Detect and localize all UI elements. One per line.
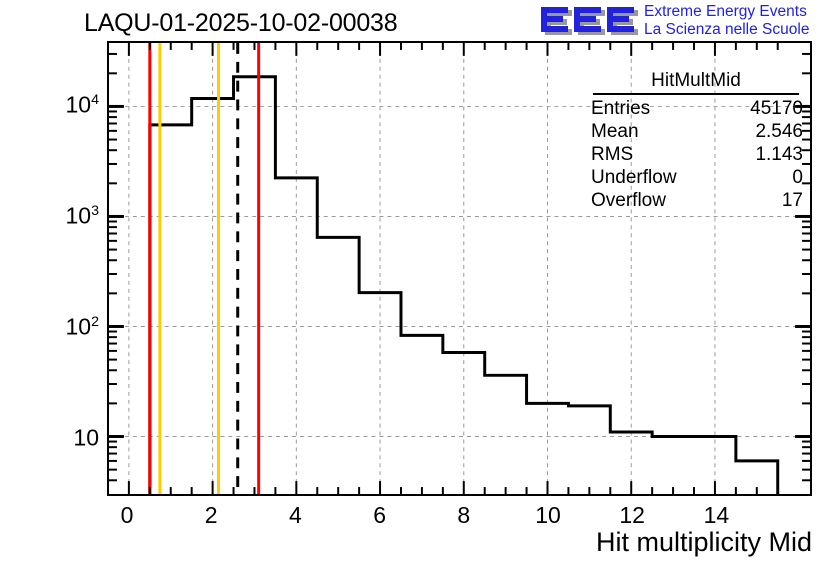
x-tick-label-1: 2 xyxy=(205,502,218,529)
stats-row-label: Overflow xyxy=(591,189,666,212)
stats-row-underflow: Underflow0 xyxy=(585,166,807,189)
stats-row-value: 1.143 xyxy=(755,143,803,166)
x-tick-label-4: 8 xyxy=(457,502,470,529)
x-tick-label-3: 6 xyxy=(373,502,386,529)
y-tick-label-1: 103 xyxy=(65,203,99,230)
x-tick-label-0: 0 xyxy=(121,502,134,529)
stats-row-label: Underflow xyxy=(591,166,677,189)
stats-row-value: 45170 xyxy=(750,97,803,120)
stats-row-label: Entries xyxy=(591,97,650,120)
eee-logo-line1: Extreme Energy Events xyxy=(644,3,809,21)
stats-row-mean: Mean2.546 xyxy=(585,120,807,143)
stats-box: HitMultMid Entries45170Mean2.546RMS1.143… xyxy=(585,70,807,212)
eee-logo-line2: La Scienza nelle Scuole xyxy=(644,21,809,39)
stats-row-value: 0 xyxy=(792,166,803,189)
stats-row-label: RMS xyxy=(591,143,633,166)
stats-row-rms: RMS1.143 xyxy=(585,143,807,166)
eee-logo: Extreme Energy Events La Scienza nelle S… xyxy=(540,2,832,42)
x-tick-label-6: 12 xyxy=(619,502,645,529)
stats-row-overflow: Overflow17 xyxy=(585,189,807,212)
eee-logo-text: Extreme Energy Events La Scienza nelle S… xyxy=(644,3,809,39)
stats-row-value: 2.546 xyxy=(755,120,803,143)
stats-box-rows: Entries45170Mean2.546RMS1.143Underflow0O… xyxy=(585,97,807,212)
stats-row-value: 17 xyxy=(782,189,803,212)
stats-row-entries: Entries45170 xyxy=(585,97,807,120)
root-canvas: LAQU-01-2025-10-02-00038 xyxy=(0,0,836,572)
x-tick-label-5: 10 xyxy=(535,502,561,529)
x-tick-label-7: 14 xyxy=(704,502,730,529)
y-tick-label-2: 102 xyxy=(65,314,99,341)
x-tick-label-2: 4 xyxy=(289,502,302,529)
y-tick-label-3: 10 xyxy=(73,425,99,452)
page-title: LAQU-01-2025-10-02-00038 xyxy=(84,9,397,38)
eee-logo-mark-icon xyxy=(540,5,638,38)
y-tick-label-0: 104 xyxy=(65,92,99,119)
x-axis-title: Hit multiplicity Mid xyxy=(596,527,812,558)
stats-box-title: HitMultMid xyxy=(593,70,799,95)
stats-row-label: Mean xyxy=(591,120,639,143)
